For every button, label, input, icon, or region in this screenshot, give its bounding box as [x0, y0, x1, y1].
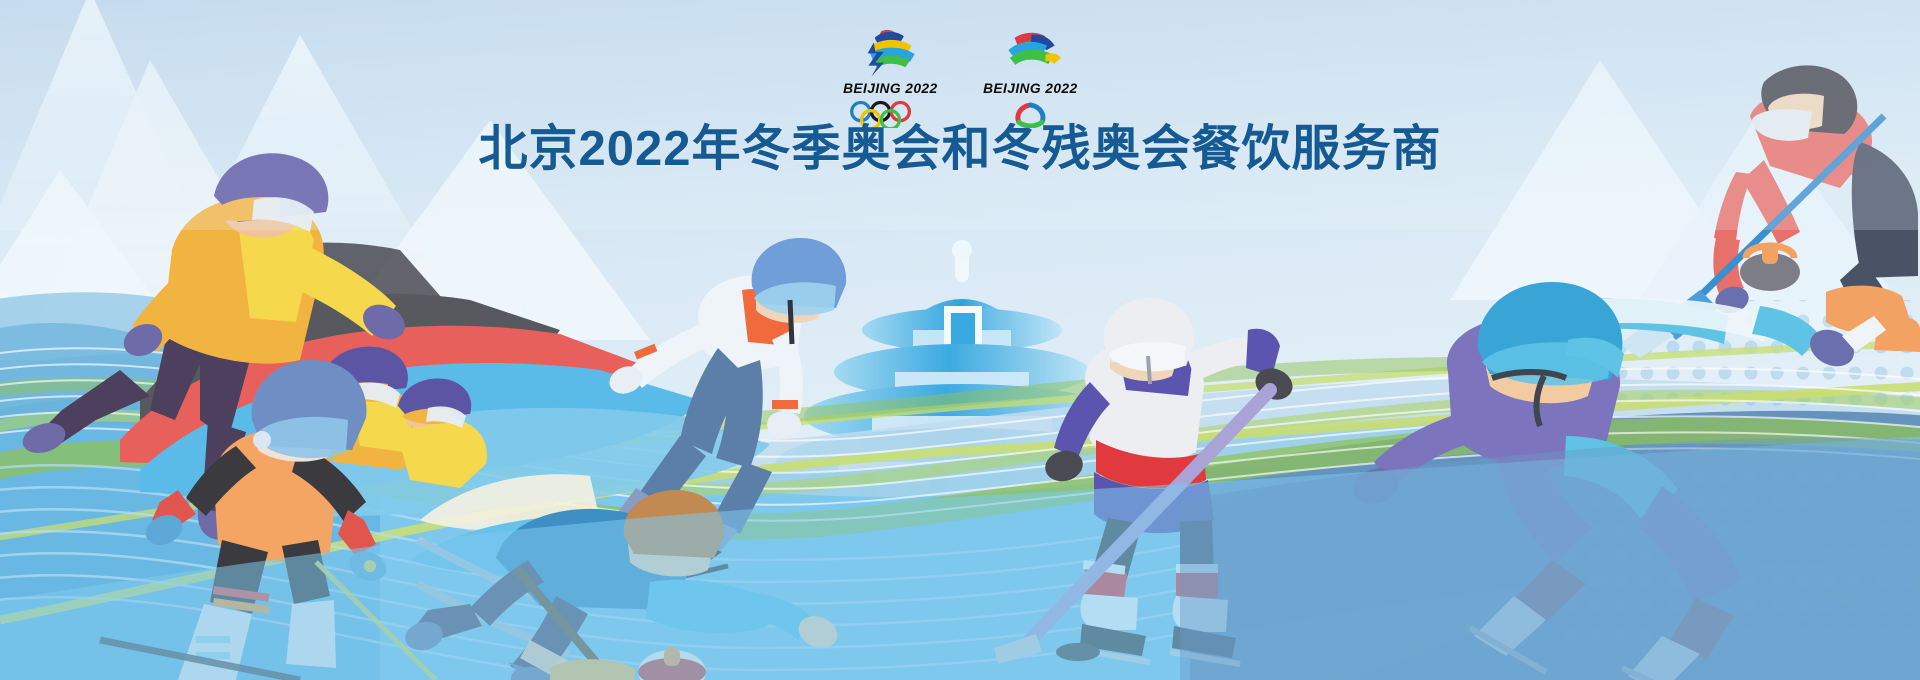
- paralympic-wordmark: BEIJING 2022: [983, 81, 1077, 96]
- olympic-wordmark: BEIJING 2022: [843, 81, 937, 96]
- paralympic-emblem-icon: [991, 24, 1069, 78]
- beijing-2022-paralympic-logo[interactable]: BEIJING 2022: [975, 24, 1085, 128]
- olympic-emblem-icon: [851, 24, 929, 78]
- page-title: 北京2022年冬季奥会和冬残奥会餐饮服务商: [0, 124, 1920, 175]
- olympic-banner: BEIJING 2022 BEIJING 2022: [0, 0, 1920, 680]
- logo-row: BEIJING 2022 BEIJING 2022: [0, 24, 1920, 128]
- beijing-2022-olympic-logo[interactable]: BEIJING 2022: [835, 24, 945, 128]
